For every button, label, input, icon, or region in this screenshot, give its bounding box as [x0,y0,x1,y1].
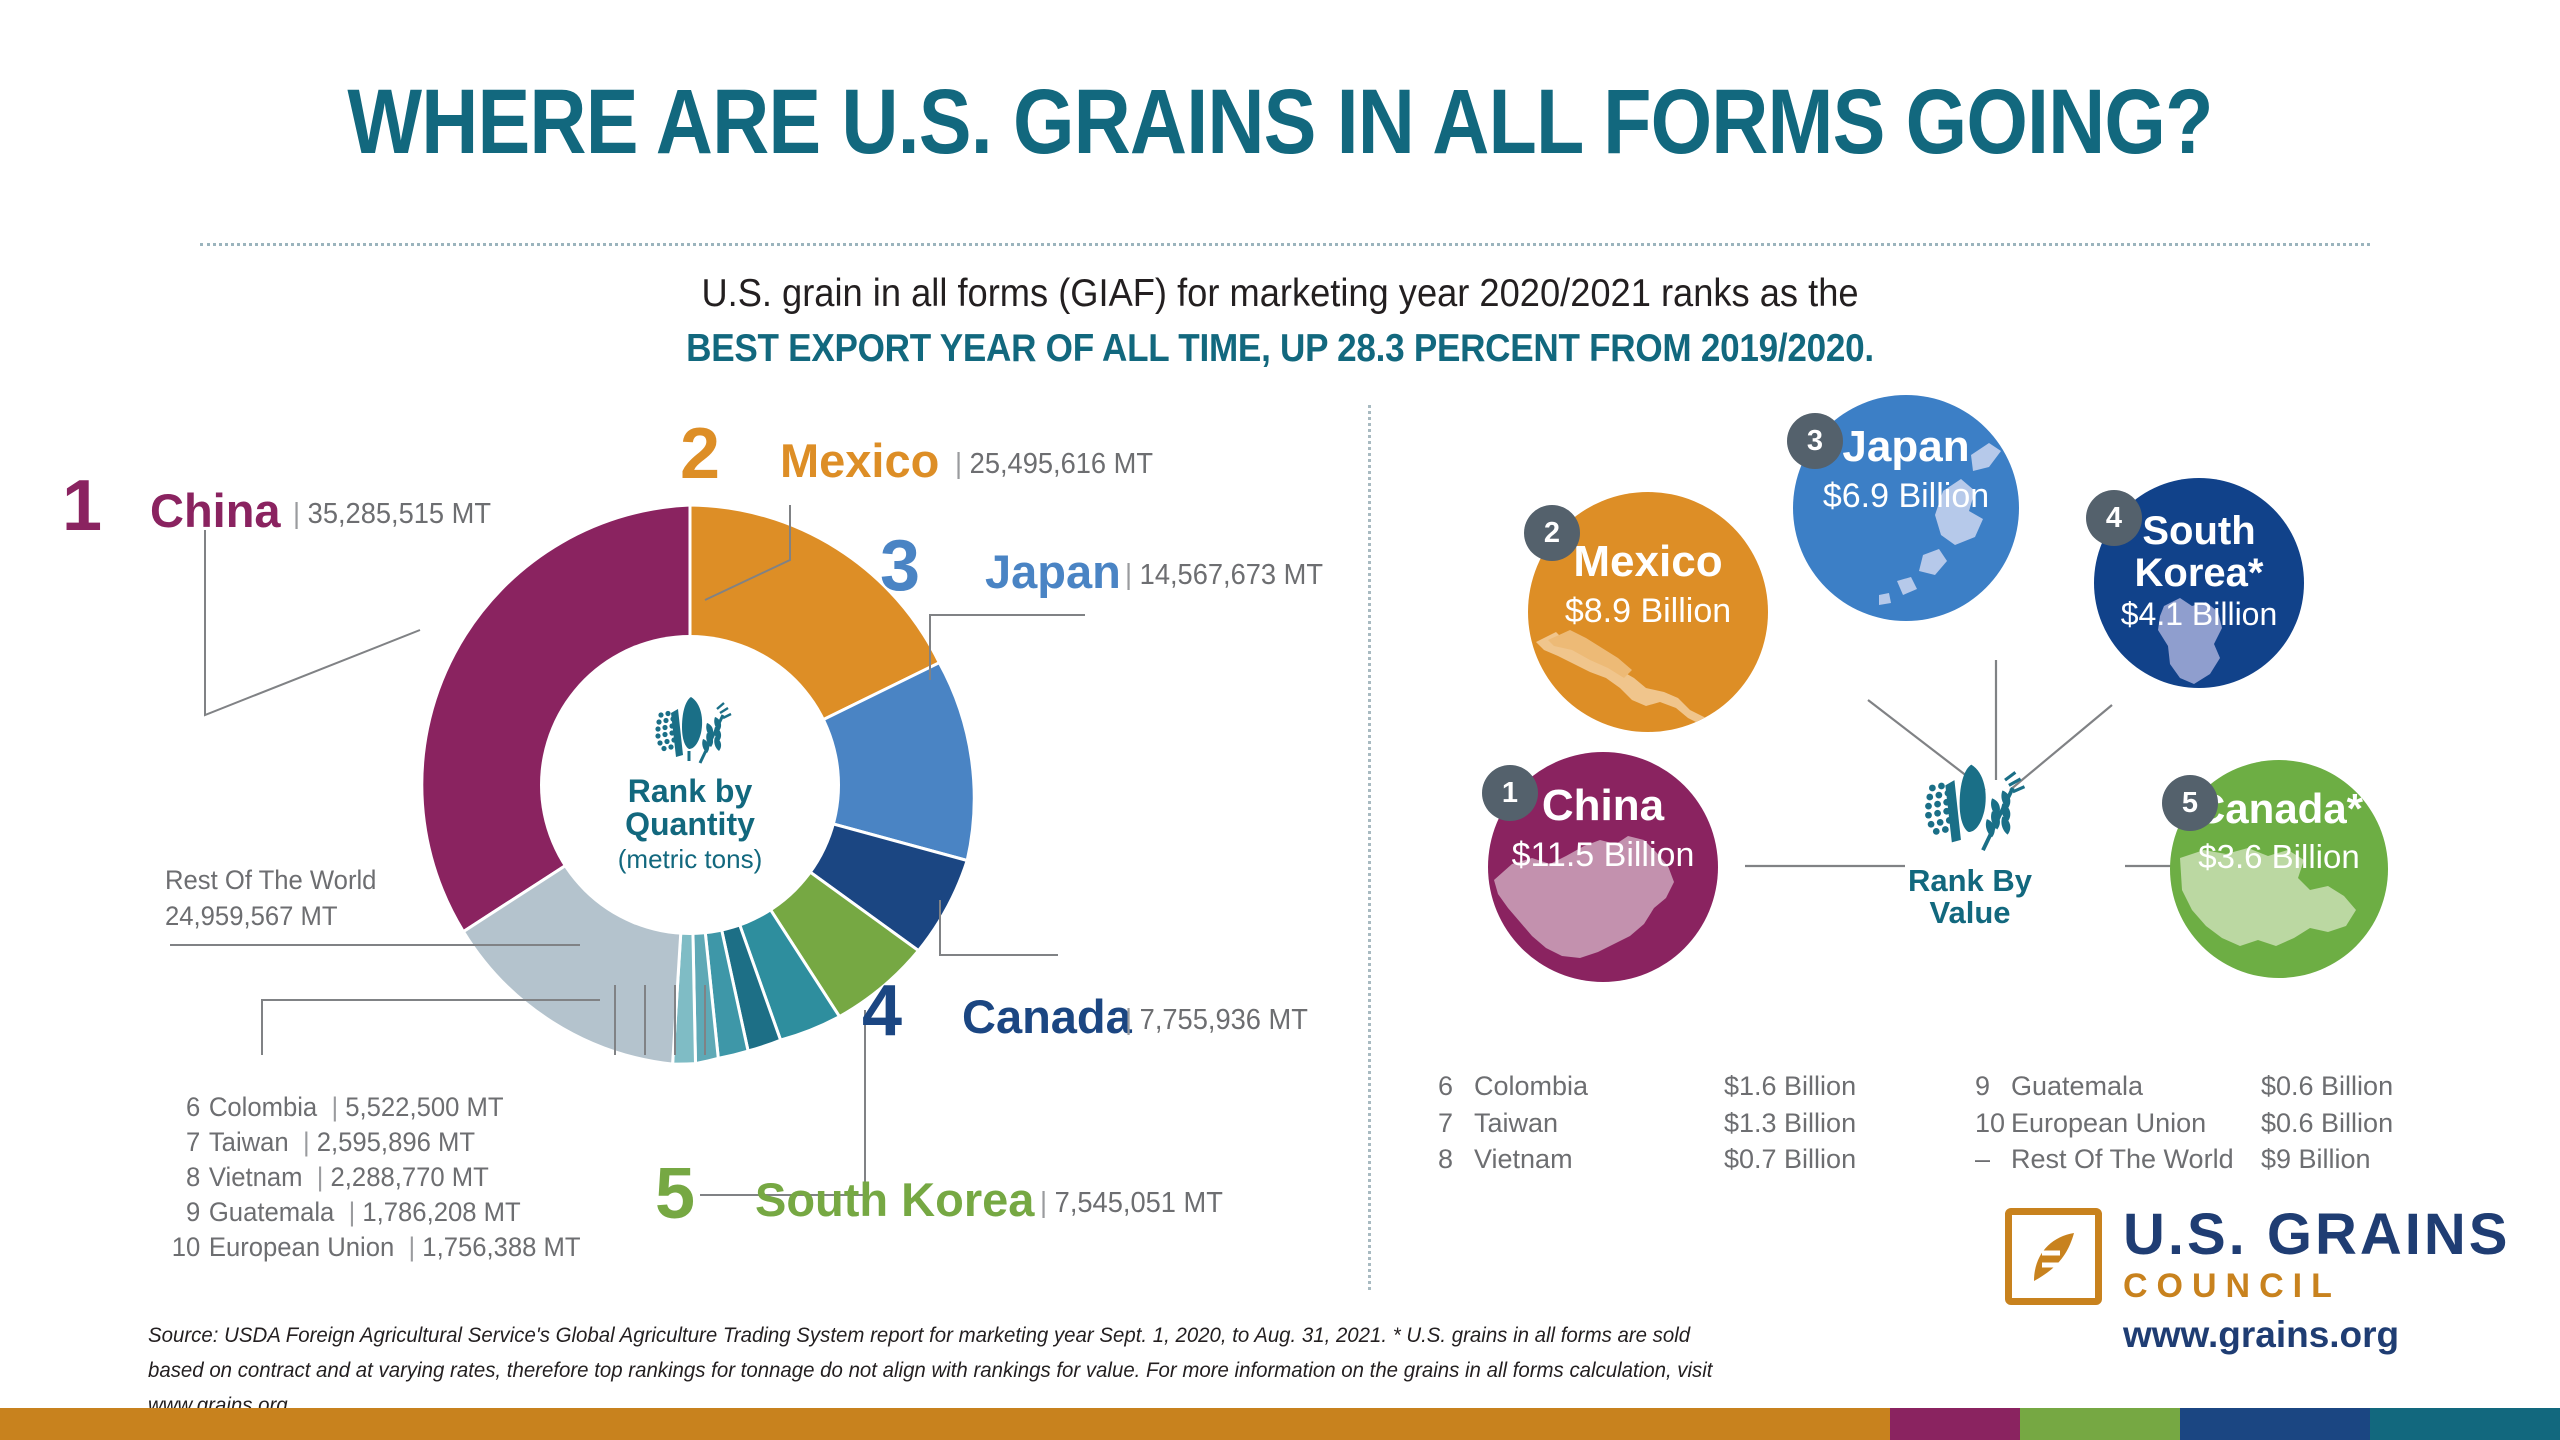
quantity-rank-number-1: 1 [62,470,102,542]
value-amount-canada: $3.6 Billion [2170,838,2388,876]
donut-center-line-2: Quantity [625,808,755,841]
usgc-leaf-mark-icon [2005,1208,2102,1305]
quantity-secondary-list: 6Colombia | 5,522,500 MT 7Taiwan | 2,595… [168,1090,581,1265]
quantity-country-3: Japan [985,548,1121,595]
quantity-value-2-text: 25,495,616 MT [970,448,1153,480]
list-item: 10European Union$0.6 Billion [1975,1105,2393,1142]
footer-bar-segment-5 [2370,1408,2560,1440]
list-item: 8Vietnam | 2,288,770 MT [168,1160,581,1195]
quantity-rank-number-3: 3 [880,530,920,602]
quantity-country-1: China [150,487,281,534]
list-item: 8Vietnam$0.7 Billion [1438,1141,1856,1178]
value-amount-mexico: $8.9 Billion [1528,592,1768,631]
page-title: WHERE ARE U.S. GRAINS IN ALL FORMS GOING… [179,70,2381,175]
value-center-line-1: Rank By [1850,865,2090,897]
value-center-label: Rank By Value [1850,762,2090,928]
quantity-value-3: | 14,567,673 MT [1125,561,1323,590]
quantity-rank-number-2: 2 [680,418,720,490]
grain-stalks-icon [1910,762,2030,858]
quantity-rest-label: Rest Of The World [165,863,376,899]
value-amount-japan: $6.9 Billion [1793,477,2019,516]
panel-divider [1368,405,1371,1290]
quantity-rank-number-4: 4 [862,975,902,1047]
list-item: 9Guatemala$0.6 Billion [1975,1068,2393,1105]
quantity-value-1: | 35,285,515 MT [293,500,491,529]
quantity-value-4-text: 7,755,936 MT [1140,1004,1308,1036]
list-item: 6Colombia | 5,522,500 MT [168,1090,581,1125]
value-secondary-list-right: 9Guatemala$0.6 Billion 10European Union$… [1975,1068,2393,1178]
quantity-value-5: | 7,545,051 MT [1040,1189,1223,1218]
list-item: 10European Union | 1,756,388 MT [168,1230,581,1265]
source-note: Source: USDA Foreign Agricultural Servic… [148,1318,1744,1422]
value-rank-badge-south-korea: 4 [2086,490,2142,546]
quantity-rank-number-5: 5 [655,1158,695,1230]
grain-stalks-icon [645,695,735,769]
quantity-value-4: | 7,755,936 MT [1125,1006,1308,1035]
list-item: 9Guatemala | 1,786,208 MT [168,1195,581,1230]
list-item: 7Taiwan$1.3 Billion [1438,1105,1856,1142]
donut-center-unit: (metric tons) [618,844,762,875]
donut-center-label: Rank by Quantity (metric tons) [540,635,840,935]
footer-bar-segment-1 [0,1408,1890,1440]
header-divider [200,243,2370,246]
quantity-country-5: South Korea [755,1176,1034,1223]
footer-bar-segment-4 [2180,1408,2370,1440]
quantity-rest-of-world: Rest Of The World 24,959,567 MT [165,863,376,934]
quantity-country-4: Canada [962,993,1132,1040]
quantity-value-2: | 25,495,616 MT [955,450,1153,479]
value-rank-badge-mexico: 2 [1524,505,1580,561]
quantity-country-2: Mexico [780,437,939,484]
value-rank-badge-china: 1 [1482,765,1538,821]
list-item: 6Colombia$1.6 Billion [1438,1068,1856,1105]
quantity-value-1-text: 35,285,515 MT [308,498,491,530]
value-secondary-list-left: 6Colombia$1.6 Billion 7Taiwan$1.3 Billio… [1438,1068,1856,1178]
list-item: 7Taiwan | 2,595,896 MT [168,1125,581,1160]
value-center-line-2: Value [1850,897,2090,929]
value-rank-badge-japan: 3 [1787,413,1843,469]
value-amount-china: $11.5 Billion [1488,836,1718,875]
footer-color-bar [0,1408,2560,1440]
quantity-rest-value: 24,959,567 MT [165,899,376,935]
quantity-value-3-text: 14,567,673 MT [1140,559,1323,591]
usgc-logo-line-1: U.S. GRAINS [2123,1205,2511,1266]
subtitle-line-1: U.S. grain in all forms (GIAF) for marke… [90,272,2471,316]
usgc-website[interactable]: www.grains.org [2123,1314,2511,1356]
quantity-value-5-text: 7,545,051 MT [1055,1187,1223,1219]
usgc-logo-line-2: COUNCIL [2123,1268,2511,1305]
infographic-canvas: WHERE ARE U.S. GRAINS IN ALL FORMS GOING… [0,0,2560,1440]
usgc-logo: U.S. GRAINS COUNCIL www.grains.org [2005,1205,2525,1355]
footer-bar-segment-3 [2020,1408,2180,1440]
value-rank-badge-canada: 5 [2162,775,2218,831]
donut-center-line-1: Rank by [628,775,752,808]
subtitle-line-2: BEST EXPORT YEAR OF ALL TIME, UP 28.3 PE… [128,327,2432,371]
value-amount-south-korea: $4.1 Billion [2094,596,2304,633]
list-item: –Rest Of The World$9 Billion [1975,1141,2393,1178]
footer-bar-segment-2 [1890,1408,2020,1440]
